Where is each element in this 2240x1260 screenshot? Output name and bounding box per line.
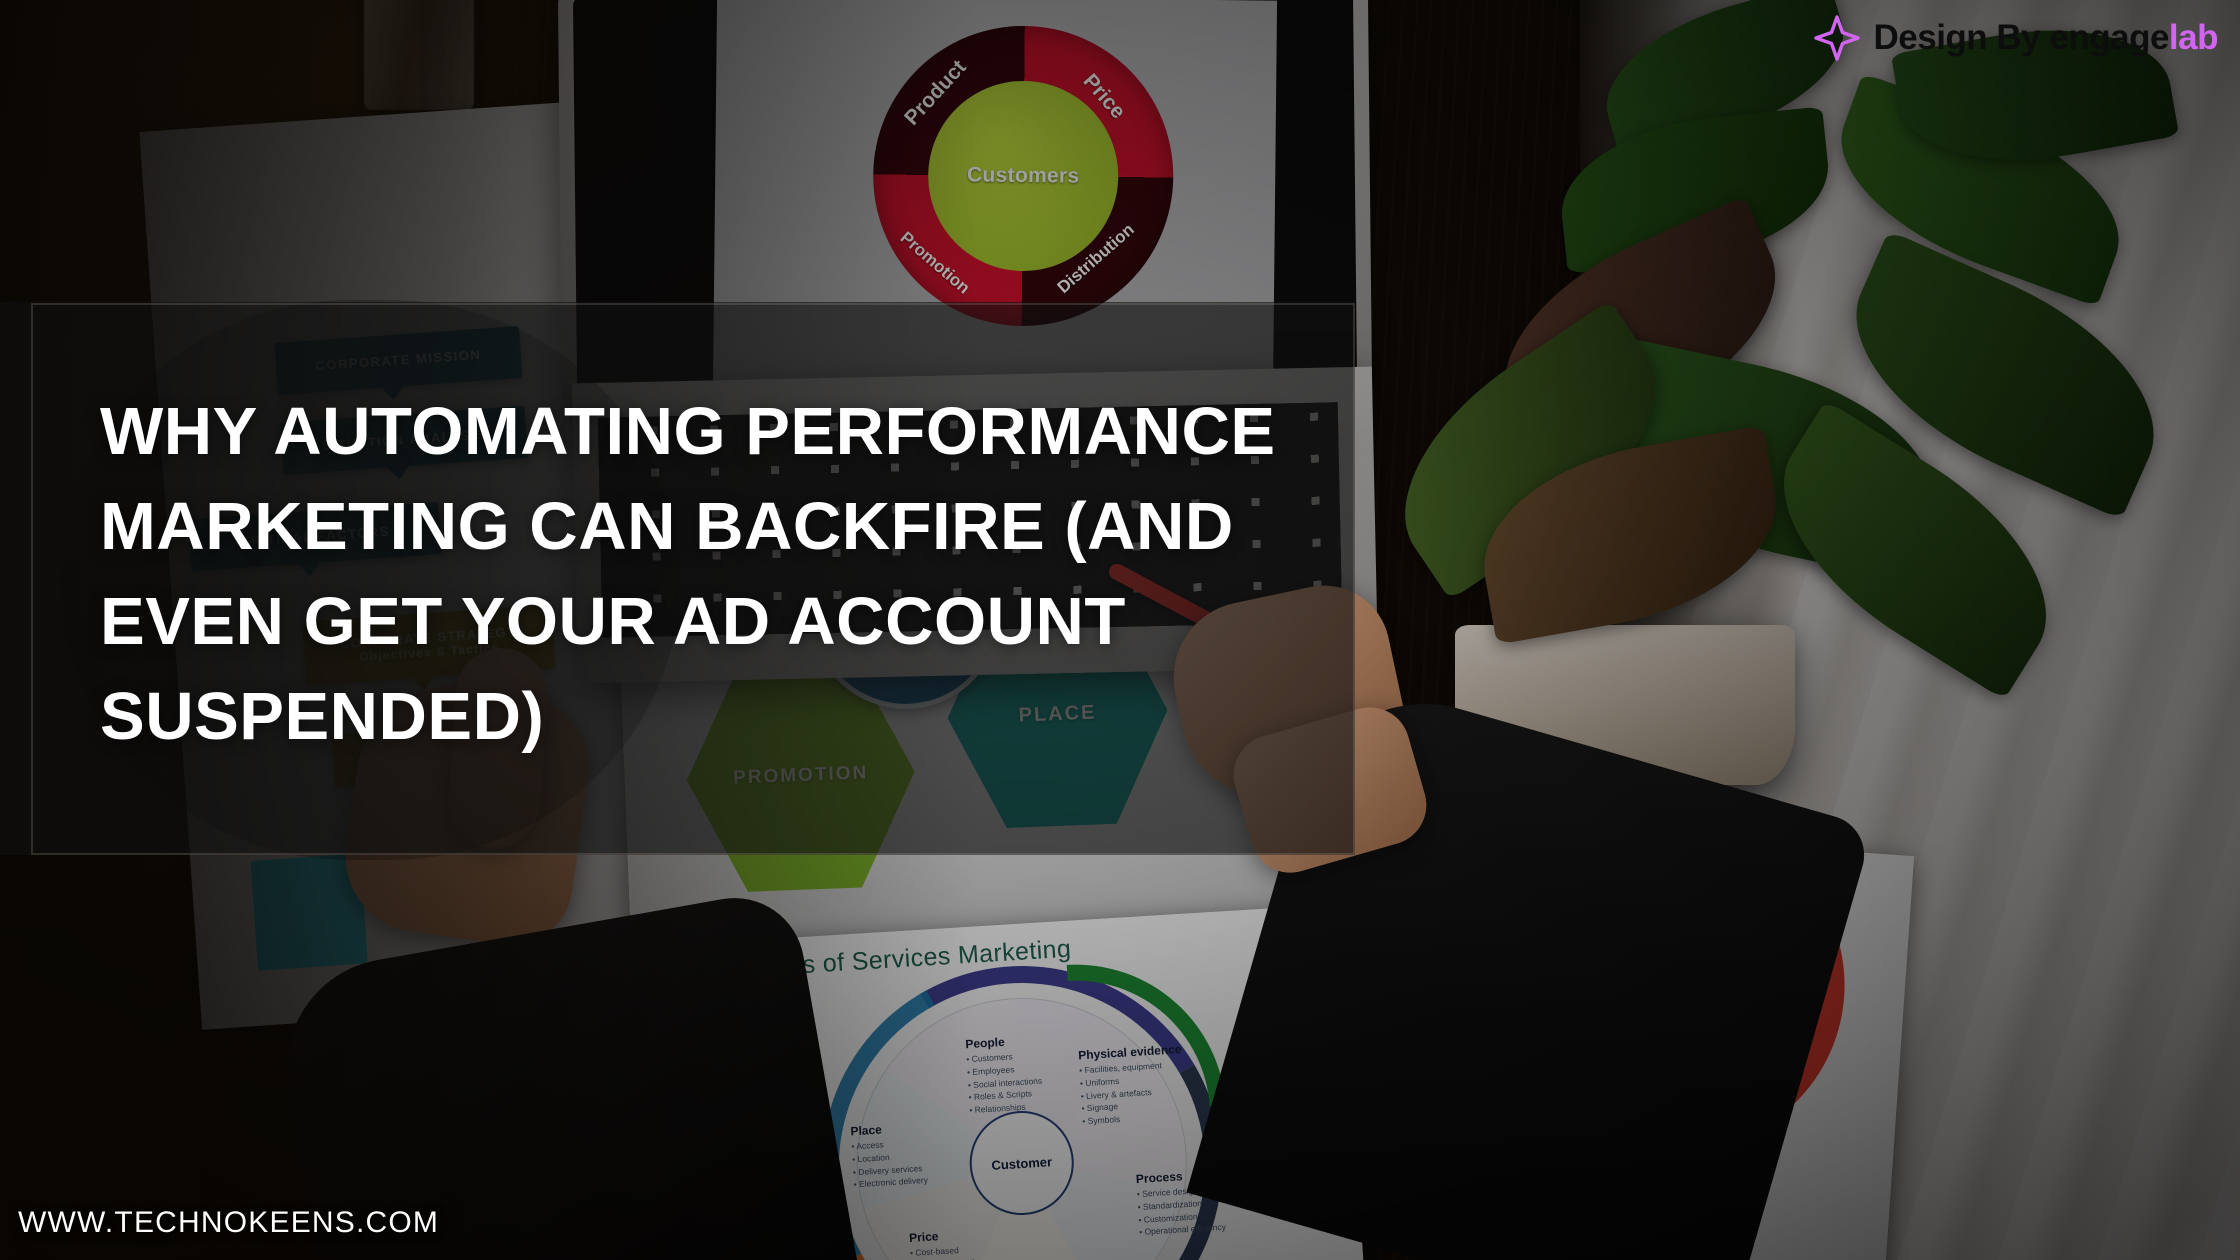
ps-items: Customers Employees Social interactions … xyxy=(966,1047,1080,1117)
logo-brand-engage: engage xyxy=(2049,18,2169,57)
ps-items: Facilities, equipment Uniforms Livery & … xyxy=(1079,1057,1205,1128)
banner-canvas: CORPORATE MISSION SITUATION ANALYSIS CRI… xyxy=(0,0,2240,1260)
logo-brand-lab: lab xyxy=(2169,18,2218,57)
glass-cup xyxy=(364,0,474,110)
laptop-screen: Product Price Distribution Promotion Cus… xyxy=(573,0,1357,388)
ps-segment-price: Price Cost-based Demand-based xyxy=(909,1225,1015,1260)
ps-segment-people: People Customers Employees Social intera… xyxy=(965,1031,1080,1117)
ps-segment-physical-evidence: Physical evidence Facilities, equipment … xyxy=(1078,1041,1205,1128)
brand-logo[interactable]: Design By engagelab xyxy=(1813,10,2218,66)
hexagon-label: PROMOTION xyxy=(733,762,869,789)
callout-label: CORPORATE MISSION xyxy=(315,347,482,373)
logo-prefix: Design By xyxy=(1873,18,2049,57)
logo-wordmark: Design By engagelab xyxy=(1873,18,2218,58)
slide-4ps: Product Price Distribution Promotion Cus… xyxy=(713,0,1277,388)
donut-chart-4ps: Product Price Distribution Promotion Cus… xyxy=(872,24,1175,327)
donut-hub-customers: Customers xyxy=(927,80,1119,272)
page-title: Why Automating Performance Marketing Can… xyxy=(100,384,1330,764)
four-point-star-icon xyxy=(1813,14,1861,62)
site-url: WWW.TECHNOKEENS.COM xyxy=(18,1206,439,1240)
ps-segment-place: Place Access Location Delivery services … xyxy=(850,1117,972,1191)
ps-items: Access Location Delivery services Electr… xyxy=(851,1133,972,1191)
